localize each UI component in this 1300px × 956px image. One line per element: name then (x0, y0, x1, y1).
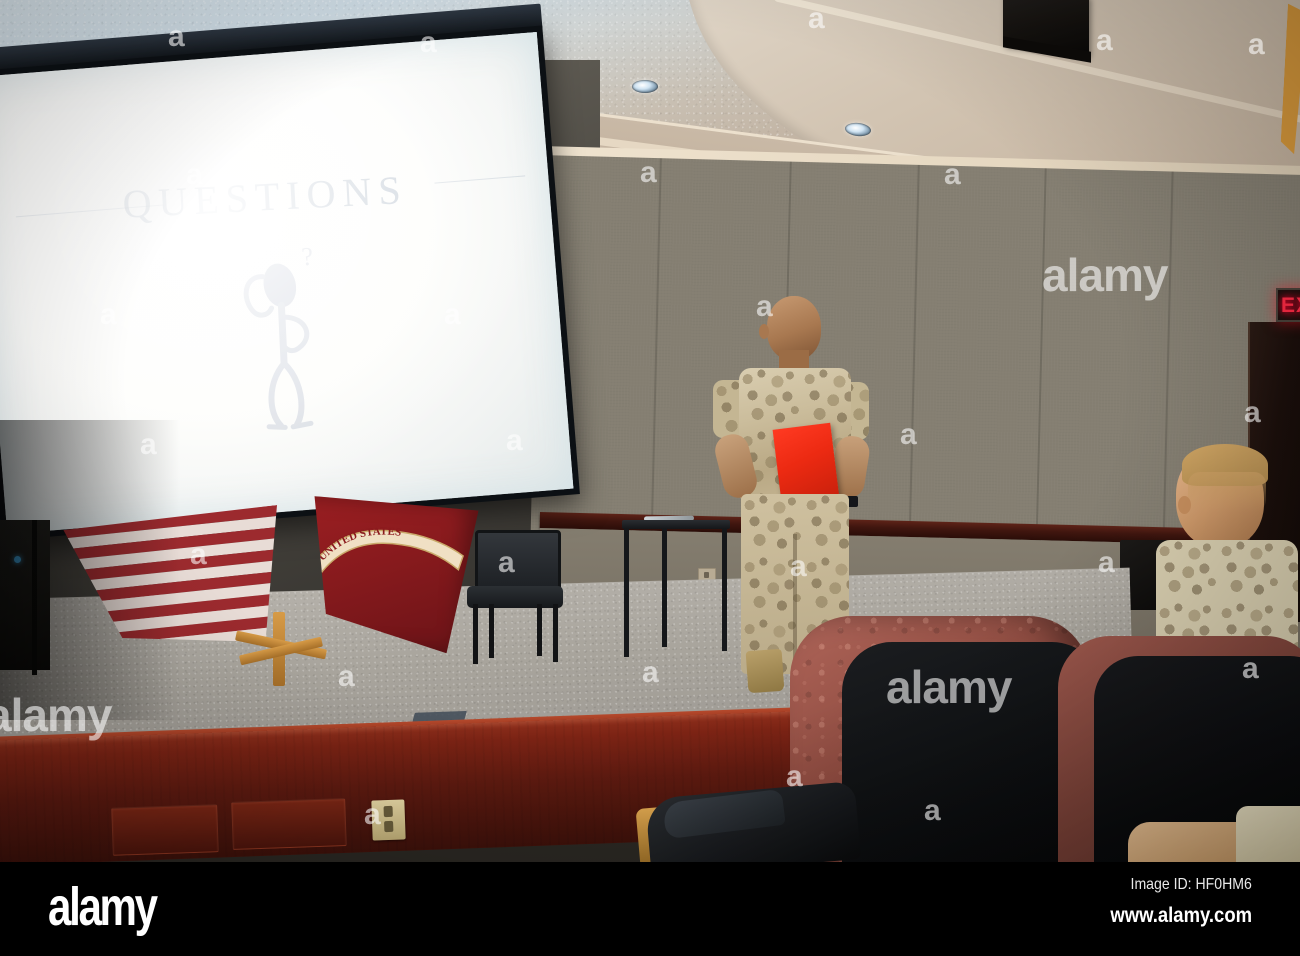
chair-back (475, 530, 561, 592)
stage-power-outlet (371, 799, 405, 840)
audience-sleeve (1236, 806, 1300, 862)
stage-table[interactable] (622, 520, 730, 665)
projection-screen-assembly: QUESTIONS ? (0, 25, 580, 540)
table-top (622, 520, 730, 529)
exit-sign: EXIT (1276, 288, 1300, 322)
mic-stand (32, 520, 37, 675)
stage-chair[interactable] (465, 530, 565, 665)
audience-ear (1178, 496, 1191, 514)
alamy-footer-bar: alamy Image ID: HF0HM6 www.alamy.com (0, 862, 1300, 956)
speaker-ear (759, 324, 769, 339)
exit-sign-label: EXIT (1278, 295, 1300, 316)
image-id-label: Image ID: HF0HM6 (1131, 876, 1252, 894)
projection-screen-surface: QUESTIONS ? (0, 32, 573, 534)
flag-stand (233, 612, 329, 686)
alamy-logo: alamy (48, 876, 156, 938)
projection-screen-frame: QUESTIONS ? (0, 25, 580, 540)
status-led-icon (14, 556, 21, 563)
stick-figure-icon: ? (205, 240, 360, 441)
stage-recessed-panel (111, 804, 219, 856)
red-folder (773, 423, 840, 506)
chair-seat (467, 586, 563, 608)
audience-hair-fade (1188, 472, 1266, 512)
left-av-equipment (0, 520, 50, 670)
screenshot-root: EXIT QUESTIONS (0, 0, 1300, 956)
speaker-left-boot (746, 649, 785, 693)
stage-recessed-panel (231, 798, 347, 850)
stock-photo: EXIT QUESTIONS (0, 0, 1300, 862)
svg-text:?: ? (300, 242, 314, 272)
slide-title: QUESTIONS (0, 159, 550, 236)
recessed-light-icon (632, 80, 658, 93)
website-label: www.alamy.com (1110, 904, 1252, 928)
